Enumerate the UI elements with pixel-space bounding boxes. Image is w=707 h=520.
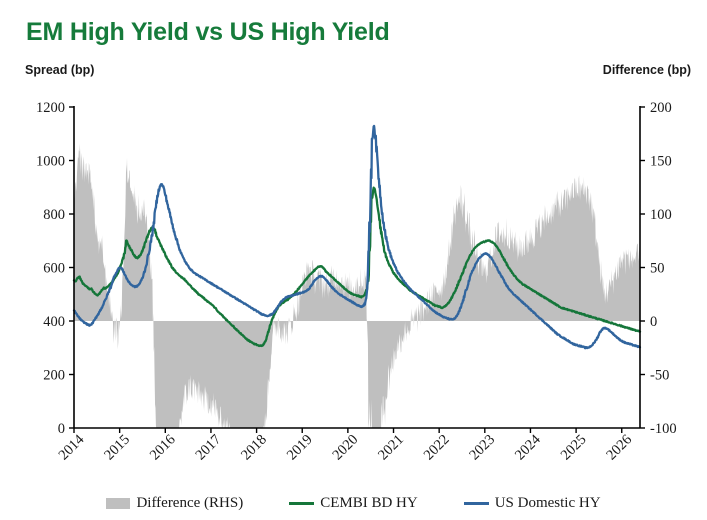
- x-axis-tick-label: 2022: [421, 432, 453, 464]
- x-axis-tick-label: 2026: [603, 432, 635, 464]
- plot-area: 020040060080010001200-100-50050100150200…: [0, 0, 707, 520]
- legend-item-cembi[interactable]: CEMBI BD HY: [289, 495, 418, 512]
- legend-line-cembi-icon: [289, 502, 314, 505]
- right-axis-tick-label: -50: [650, 368, 669, 384]
- right-axis-tick-label: 200: [650, 100, 672, 116]
- left-axis-tick-label: 1200: [36, 100, 65, 116]
- x-axis-tick-label: 2015: [101, 432, 133, 464]
- legend-swatch-difference-icon: [106, 498, 130, 509]
- x-axis-tick-label: 2023: [466, 432, 498, 464]
- chart-container: EM High Yield vs US High Yield Spread (b…: [0, 0, 707, 520]
- legend-label: Difference (RHS): [136, 495, 243, 512]
- x-axis-tick-label: 2025: [558, 432, 590, 464]
- x-axis-tick-label: 2018: [238, 432, 270, 464]
- legend-item-us_hy[interactable]: US Domestic HY: [464, 495, 601, 512]
- x-axis-tick-label: 2019: [284, 432, 316, 464]
- right-axis-tick-label: 50: [650, 261, 665, 277]
- legend-label: US Domestic HY: [495, 495, 601, 512]
- left-axis-tick-label: 0: [58, 421, 65, 437]
- right-axis-tick-label: 100: [650, 207, 672, 223]
- left-axis-tick-label: 800: [43, 207, 65, 223]
- left-axis-tick-label: 600: [43, 261, 65, 277]
- x-axis-tick-label: 2016: [147, 432, 179, 464]
- legend-line-us_hy-icon: [464, 502, 489, 505]
- right-axis-tick-label: 0: [650, 314, 657, 330]
- legend-label: CEMBI BD HY: [320, 495, 418, 512]
- left-axis-tick-label: 1000: [36, 154, 65, 170]
- x-axis-tick-label: 2024: [512, 431, 544, 463]
- right-axis-tick-label: 150: [650, 154, 672, 170]
- x-axis-tick-label: 2020: [329, 432, 361, 464]
- x-axis-tick-label: 2021: [375, 432, 407, 464]
- left-axis-tick-label: 400: [43, 314, 65, 330]
- legend-item-difference[interactable]: Difference (RHS): [106, 495, 243, 512]
- x-axis-tick-label: 2017: [193, 432, 225, 464]
- left-axis-tick-label: 200: [43, 368, 65, 384]
- chart-legend: Difference (RHS)CEMBI BD HYUS Domestic H…: [0, 495, 707, 512]
- right-axis-tick-label: -100: [650, 421, 677, 437]
